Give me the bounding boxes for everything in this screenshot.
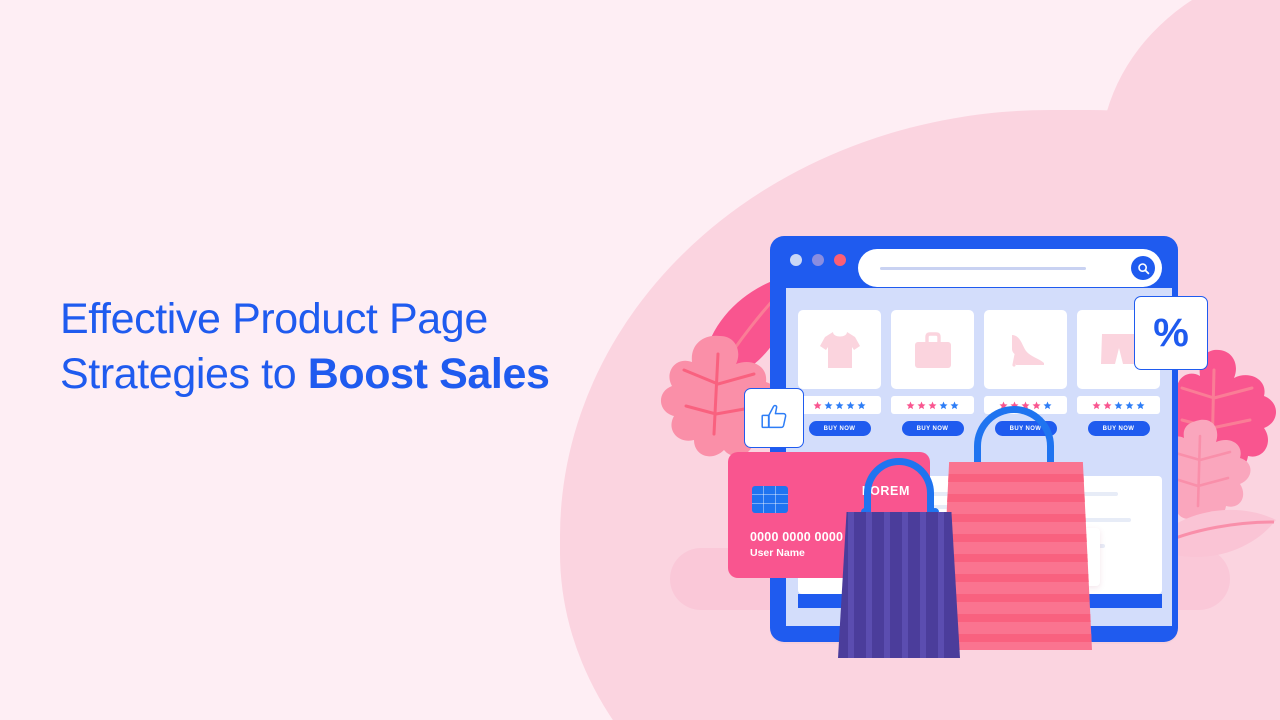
buy-now-button[interactable]: BUY NOW [809,421,871,436]
star-icon [813,401,822,410]
product-grid: BUY NOW BUY NOW [798,310,1162,436]
star-icon [835,401,844,410]
star-icon [1136,401,1145,410]
bag-body-pink [940,462,1092,650]
search-input-text-placeholder [880,267,1086,270]
headline-line-2-regular: Strategies to [60,350,308,398]
star-icon [1125,401,1134,410]
product-rating-stars [891,396,974,414]
thumbs-up-icon [758,402,790,434]
star-icon [1103,401,1112,410]
window-control-dots [790,254,846,266]
star-icon [939,401,948,410]
page-title: Effective Product Page Strategies to Boo… [60,292,660,402]
card-holder-label: User Name [750,547,805,559]
card-chip-icon [752,486,788,513]
star-icon [1092,401,1101,410]
star-icon [1114,401,1123,410]
star-icon [1032,401,1041,410]
tshirt-icon [798,310,881,389]
discount-badge[interactable]: % [1134,296,1208,370]
browser-titlebar [770,236,1178,288]
buy-now-button[interactable]: BUY NOW [1088,421,1150,436]
like-badge[interactable] [744,388,804,448]
window-dot-minimize-icon[interactable] [790,254,802,266]
star-icon [906,401,915,410]
bag-stripes [940,462,1092,650]
product-rating-stars [798,396,881,414]
star-icon [950,401,959,410]
headline-line-1: Effective Product Page [60,295,488,343]
search-icon[interactable] [1131,256,1155,280]
poster-canvas: Effective Product Page Strategies to Boo… [0,0,1280,720]
percent-icon: % [1153,313,1189,353]
star-icon [846,401,855,410]
product-card[interactable]: BUY NOW [798,310,881,436]
search-input[interactable] [858,249,1162,287]
star-icon [824,401,833,410]
bag-stripes [838,512,960,658]
ecommerce-illustration: BUY NOW BUY NOW [640,120,1260,640]
star-icon [928,401,937,410]
product-card[interactable]: BUY NOW [891,310,974,436]
star-icon [857,401,866,410]
window-dot-close-icon[interactable] [834,254,846,266]
highheel-icon [984,310,1067,389]
product-rating-stars [1077,396,1160,414]
star-icon [1043,401,1052,410]
handbag-icon [891,310,974,389]
headline-line-2-bold: Boost Sales [308,350,550,398]
star-icon [917,401,926,410]
window-dot-maximize-icon[interactable] [812,254,824,266]
bag-body-purple [838,512,960,658]
buy-now-button[interactable]: BUY NOW [902,421,964,436]
